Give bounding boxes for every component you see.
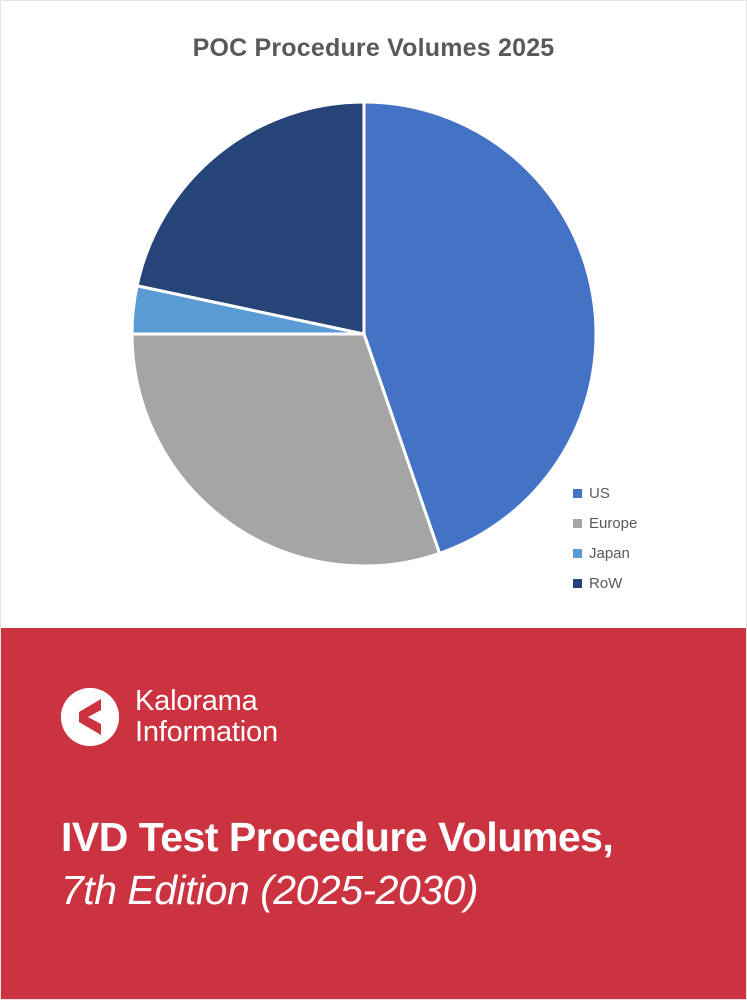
legend-label: Japan <box>589 545 630 562</box>
brand-name: Kalorama Information <box>135 686 278 748</box>
chart-legend: USEuropeJapanRoW <box>573 478 693 598</box>
report-title-line1: IVD Test Procedure Volumes, <box>61 811 701 863</box>
legend-item-japan: Japan <box>573 538 693 568</box>
legend-label: US <box>589 485 610 502</box>
legend-item-us: US <box>573 478 693 508</box>
brand-lockup: Kalorama Information <box>61 686 278 748</box>
brand-name-line1: Kalorama <box>135 686 278 717</box>
legend-swatch-icon <box>573 579 582 588</box>
pie-chart <box>131 101 597 567</box>
title-banner: Kalorama Information IVD Test Procedure … <box>1 628 746 1000</box>
brand-name-line2: Information <box>135 717 278 748</box>
kalorama-logo-icon <box>61 688 119 746</box>
pie-slices <box>132 102 596 566</box>
legend-label: Europe <box>589 515 637 532</box>
legend-swatch-icon <box>573 549 582 558</box>
legend-swatch-icon <box>573 519 582 528</box>
legend-item-row: RoW <box>573 568 693 598</box>
report-title-line2: 7th Edition (2025-2030) <box>61 863 701 917</box>
report-cover-page: POC Procedure Volumes 2025 USEuropeJapan… <box>0 0 747 1000</box>
report-title: IVD Test Procedure Volumes, 7th Edition … <box>61 811 701 917</box>
legend-label: RoW <box>589 575 622 592</box>
legend-item-europe: Europe <box>573 508 693 538</box>
chart-title: POC Procedure Volumes 2025 <box>1 34 746 63</box>
pie-chart-svg <box>131 101 597 567</box>
legend-swatch-icon <box>573 489 582 498</box>
chart-panel: POC Procedure Volumes 2025 USEuropeJapan… <box>1 1 746 628</box>
